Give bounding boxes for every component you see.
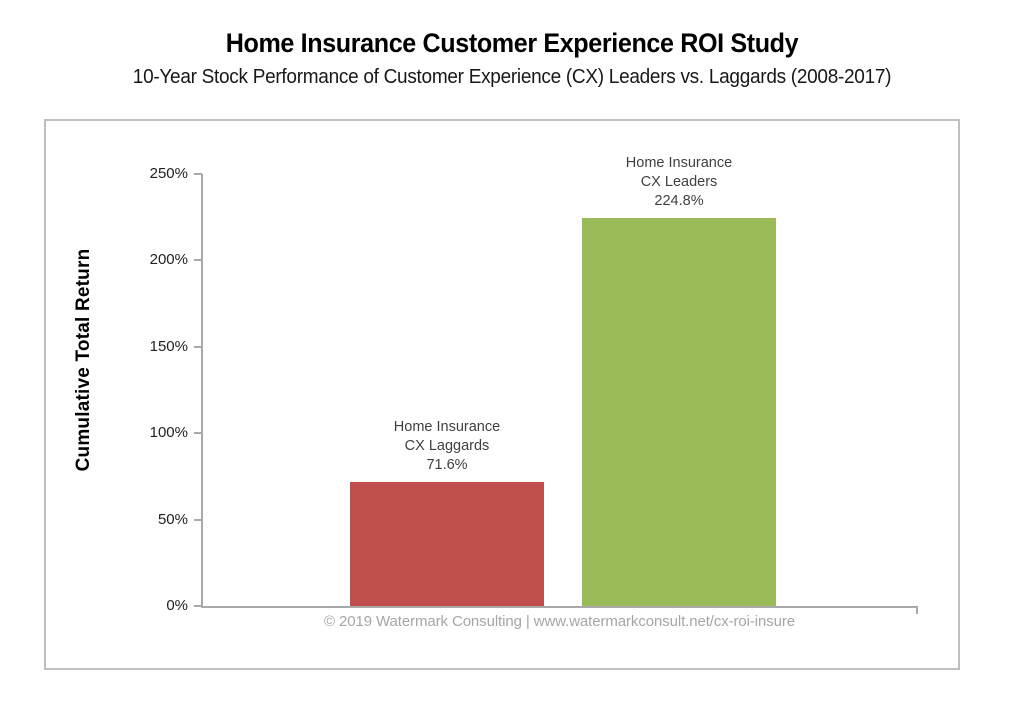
chart-subtitle: 10-Year Stock Performance of Customer Ex… <box>26 64 999 90</box>
bar-home-insurance-cx-leaders[interactable] <box>582 218 776 606</box>
y-axis-tick-label: 100% <box>118 424 188 441</box>
bar-value-label: 224.8% <box>552 192 806 211</box>
chart-frame: Cumulative Total Return 250%200%150%100%… <box>44 119 960 670</box>
y-axis-tick <box>194 173 202 175</box>
y-axis-tick-label: 250% <box>118 165 188 182</box>
y-axis-tick-label: 50% <box>118 511 188 528</box>
y-axis-tick <box>194 432 202 434</box>
y-axis-tick-label: 150% <box>118 338 188 355</box>
bar-home-insurance-cx-laggards[interactable] <box>350 482 544 606</box>
y-axis-line <box>201 174 203 607</box>
y-axis-title: Cumulative Total Return <box>73 220 95 500</box>
bar-label-home-insurance-cx-leaders: Home InsuranceCX Leaders224.8% <box>552 154 806 211</box>
bar-category-label-line1: Home Insurance <box>320 418 574 437</box>
y-axis-tick-label: 200% <box>118 251 188 268</box>
y-axis-tick-label: 0% <box>118 597 188 614</box>
bar-value-label: 71.6% <box>320 456 574 475</box>
x-axis-line <box>201 606 918 608</box>
plot-area: Cumulative Total Return 250%200%150%100%… <box>46 121 962 672</box>
chart-title: Home Insurance Customer Experience ROI S… <box>36 26 988 60</box>
title-block: Home Insurance Customer Experience ROI S… <box>0 26 1024 90</box>
y-axis-tick <box>194 346 202 348</box>
bar-category-label-line2: CX Leaders <box>552 173 806 192</box>
bar-category-label-line1: Home Insurance <box>552 154 806 173</box>
bar-category-label-line2: CX Laggards <box>320 437 574 456</box>
footer-watermark: © 2019 Watermark Consulting | www.waterm… <box>201 613 918 630</box>
y-axis-tick <box>194 519 202 521</box>
y-axis-tick <box>194 259 202 261</box>
bar-label-home-insurance-cx-laggards: Home InsuranceCX Laggards71.6% <box>320 418 574 475</box>
